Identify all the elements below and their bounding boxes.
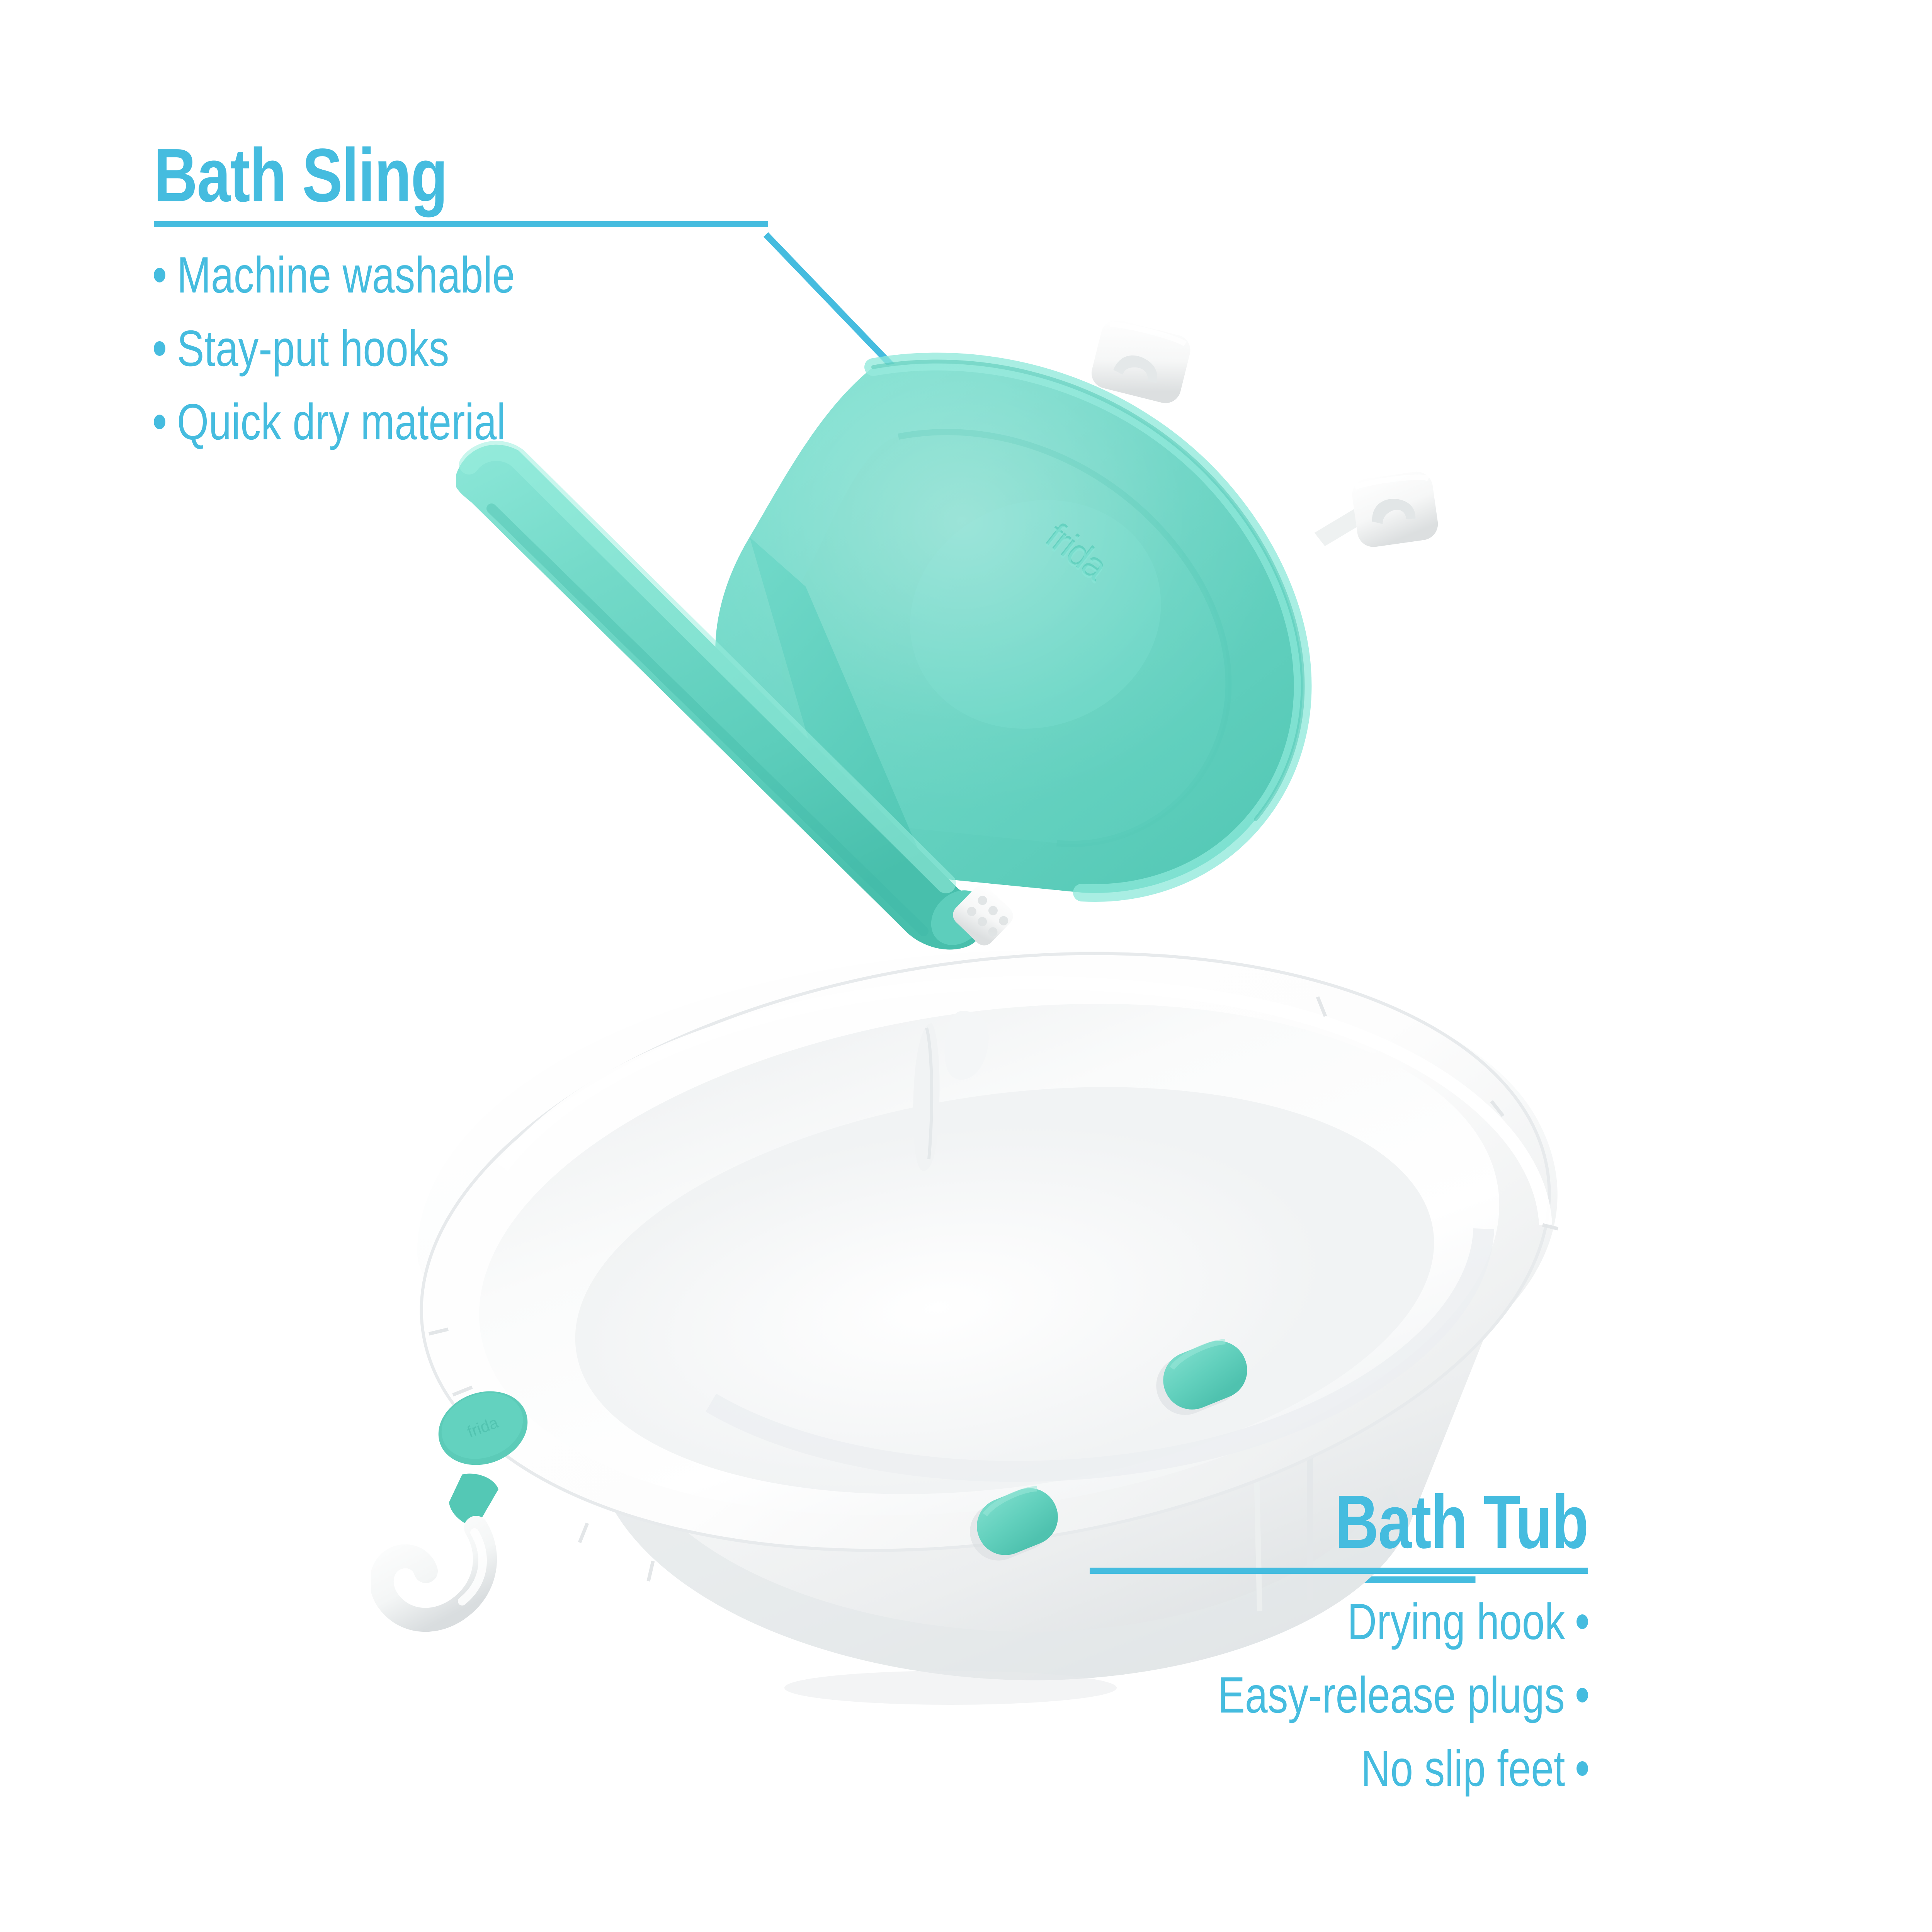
no-slip-foot — [784, 1671, 1117, 1705]
bullet-dot-icon — [154, 415, 165, 429]
page-title-bath-tub: Bath Tub — [1189, 1486, 1588, 1558]
list-item: Easy-release plugs — [1090, 1670, 1588, 1721]
sling-hook-clip-right — [1308, 469, 1440, 555]
feature-label: No slip feet — [1361, 1743, 1565, 1794]
list-item: Quick dry material — [154, 396, 768, 447]
bullet-dot-icon — [1577, 1614, 1588, 1629]
feature-list-bath-sling: Machine washable Stay-put hooks Quick dr… — [154, 250, 768, 447]
feature-label: Machine washable — [177, 250, 515, 301]
callout-bath-tub: Bath Tub Drying hook Easy-release plugs … — [1090, 1486, 1588, 1794]
drying-hook: frida — [382, 1379, 538, 1620]
page-title-bath-sling: Bath Sling — [154, 139, 645, 212]
feature-label: Stay-put hooks — [177, 323, 449, 374]
feature-label: Quick dry material — [177, 396, 506, 447]
bullet-dot-icon — [1577, 1688, 1588, 1702]
feature-list-bath-tub: Drying hook Easy-release plugs No slip f… — [1090, 1596, 1588, 1794]
product-infographic: frida frida — [0, 0, 1932, 1932]
callout-rule-bath-sling — [154, 221, 768, 227]
bullet-dot-icon — [1577, 1761, 1588, 1776]
bullet-dot-icon — [154, 268, 165, 282]
callout-bath-sling: Bath Sling Machine washable Stay-put hoo… — [154, 139, 768, 447]
list-item: Machine washable — [154, 250, 768, 301]
list-item: Stay-put hooks — [154, 323, 768, 374]
feature-label: Drying hook — [1347, 1596, 1565, 1647]
feature-label: Easy-release plugs — [1218, 1670, 1565, 1721]
callout-rule-bath-tub — [1090, 1568, 1588, 1574]
list-item: Drying hook — [1090, 1596, 1588, 1647]
bullet-dot-icon — [154, 341, 165, 356]
list-item: No slip feet — [1090, 1743, 1588, 1794]
